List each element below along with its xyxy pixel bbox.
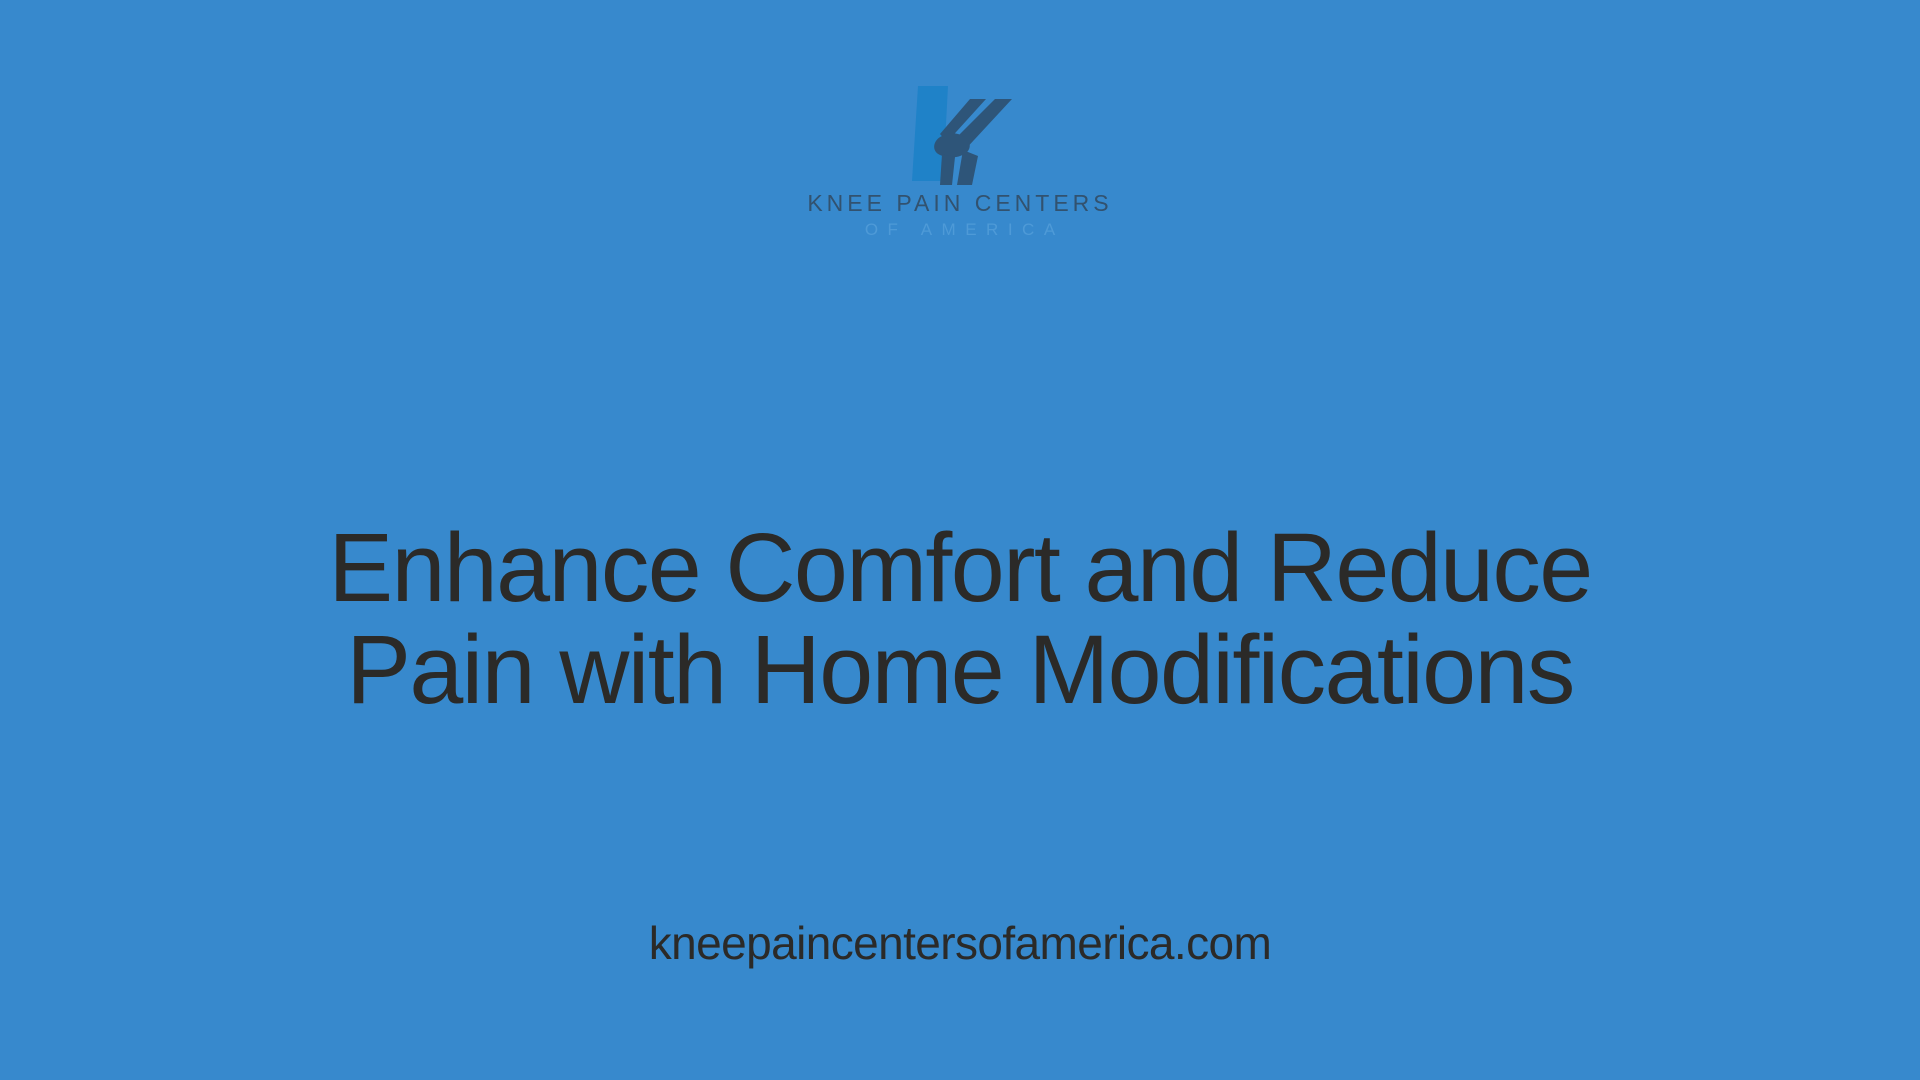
knee-joint-k-logo-icon — [900, 84, 1020, 188]
site-url[interactable]: kneepaincentersofamerica.com — [0, 920, 1920, 966]
page-title-line-1: Enhance Comfort and Reduce — [180, 517, 1740, 619]
brand-logo-lockup: KNEE PAIN CENTERS OF AMERICA — [0, 84, 1920, 238]
logo-subword: OF AMERICA — [855, 221, 1064, 238]
slide-root: KNEE PAIN CENTERS OF AMERICA Enhance Com… — [0, 0, 1920, 1080]
logo-wordmark: KNEE PAIN CENTERS — [807, 192, 1112, 215]
page-title: Enhance Comfort and Reduce Pain with Hom… — [0, 517, 1920, 721]
page-title-line-2: Pain with Home Modifications — [180, 619, 1740, 721]
